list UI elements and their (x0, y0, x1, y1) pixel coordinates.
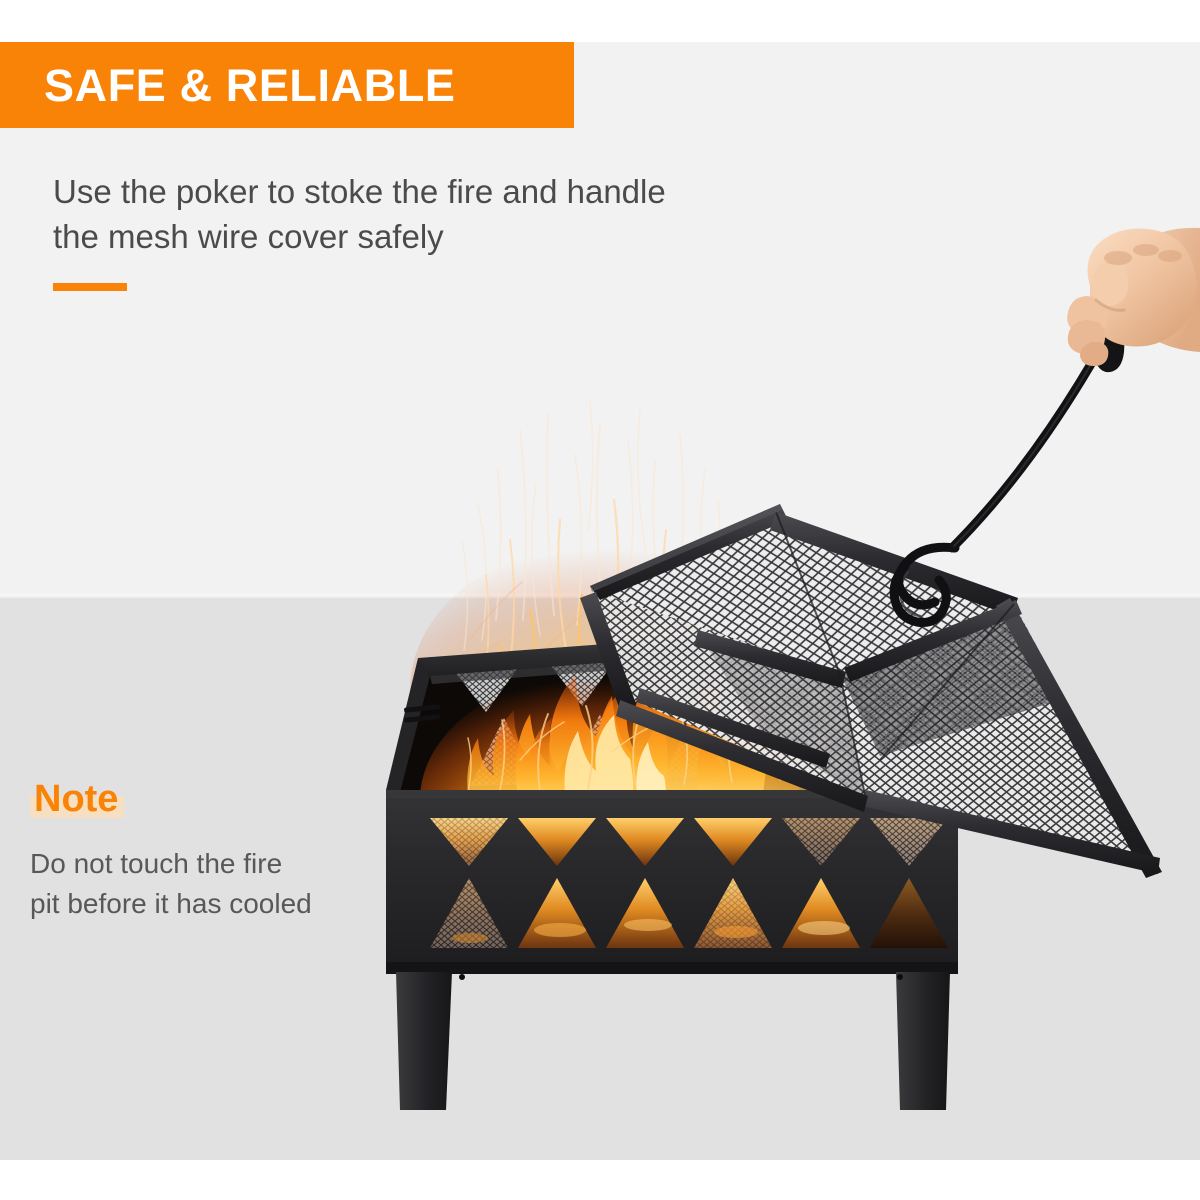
note-line-2: pit before it has cooled (30, 884, 360, 924)
top-white-band (0, 0, 1200, 42)
feature-panel: SAFE & RELIABLE Use the poker to stoke t… (0, 0, 1200, 1200)
headline-banner: SAFE & RELIABLE (0, 42, 574, 128)
lead-paragraph: Use the poker to stoke the fire and hand… (53, 170, 753, 260)
note-block: Note Do not touch the fire pit before it… (30, 780, 360, 923)
accent-rule (53, 283, 127, 291)
headline-text: SAFE & RELIABLE (0, 63, 456, 108)
bottom-white-band (0, 1160, 1200, 1200)
note-title-wrap: Note (30, 780, 124, 820)
lead-line-1: Use the poker to stoke the fire and hand… (53, 170, 753, 215)
note-title: Note (34, 778, 118, 820)
note-line-1: Do not touch the fire (30, 844, 360, 884)
lead-line-2: the mesh wire cover safely (53, 215, 753, 260)
note-body: Do not touch the fire pit before it has … (30, 844, 360, 924)
